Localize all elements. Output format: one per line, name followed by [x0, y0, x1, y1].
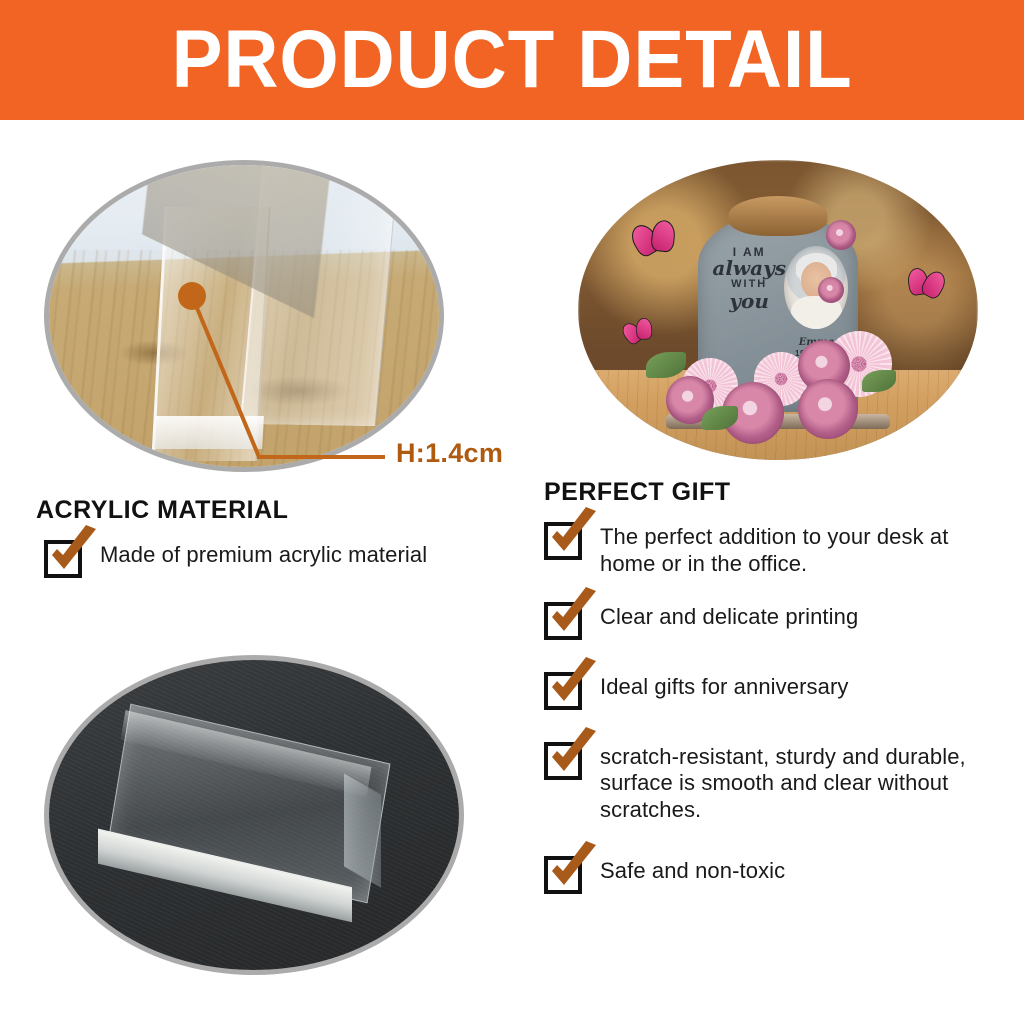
list-item-label: Safe and non-toxic [600, 854, 785, 885]
acrylic-edge-scene [49, 165, 439, 467]
list-item[interactable]: Made of premium acrylic material [44, 538, 514, 578]
check-icon [544, 507, 602, 565]
section-title-perfect-gift: PERFECT GIFT [544, 478, 731, 507]
checkbox-icon[interactable] [544, 672, 582, 710]
check-icon [544, 727, 602, 785]
butterfly-icon [906, 267, 946, 300]
photo-acrylic-edge [44, 160, 444, 472]
list-item-label: Made of premium acrylic material [100, 538, 427, 569]
list-item[interactable]: Safe and non-toxic [544, 854, 1004, 894]
header-banner: PRODUCT DETAIL [0, 0, 1024, 120]
acrylic-block-base-highlight [153, 416, 264, 449]
check-icon [44, 525, 102, 583]
plaque-scene: I AM always WITH you Emma 1945-2025 [578, 160, 978, 460]
list-item[interactable]: scratch-resistant, sturdy and durable, s… [544, 740, 1004, 824]
plaque-inscription: I AM always WITH you [708, 246, 791, 312]
page-title: PRODUCT DETAIL [172, 19, 853, 101]
feature-list-acrylic-material: Made of premium acrylic material [44, 538, 514, 600]
list-item[interactable]: Ideal gifts for anniversary [544, 670, 1004, 710]
feature-list-perfect-gift: The perfect addition to your desk at hom… [544, 520, 1004, 916]
list-item-label: The perfect addition to your desk at hom… [600, 520, 1004, 578]
checkbox-icon[interactable] [544, 856, 582, 894]
checkbox-icon[interactable] [44, 540, 82, 578]
list-item-label: Ideal gifts for anniversary [600, 670, 848, 701]
rose-flower [826, 220, 856, 250]
rose-flower [818, 277, 844, 303]
checkbox-icon[interactable] [544, 602, 582, 640]
slab-scene [49, 660, 459, 970]
check-icon [544, 587, 602, 645]
product-detail-page: PRODUCT DETAIL I AM always WIT [0, 0, 1024, 1024]
check-icon [544, 657, 602, 715]
checkbox-icon[interactable] [544, 742, 582, 780]
check-icon [544, 841, 602, 899]
photo-acrylic-slab [44, 655, 464, 975]
list-item[interactable]: The perfect addition to your desk at hom… [544, 520, 1004, 578]
plaque-line-you: you [708, 291, 791, 312]
plaque-line-always: always [708, 258, 791, 279]
plaque-ornament-crown [728, 196, 827, 236]
section-title-acrylic-material: ACRYLIC MATERIAL [36, 496, 288, 525]
height-label: H:1.4cm [396, 438, 503, 469]
list-item-label: scratch-resistant, sturdy and durable, s… [600, 740, 1004, 824]
rose-flower [798, 379, 858, 439]
list-item[interactable]: Clear and delicate printing [544, 600, 1004, 640]
photo-memorial-plaque: I AM always WITH you Emma 1945-2025 [578, 160, 978, 460]
checkbox-icon[interactable] [544, 522, 582, 560]
list-item-label: Clear and delicate printing [600, 600, 858, 631]
